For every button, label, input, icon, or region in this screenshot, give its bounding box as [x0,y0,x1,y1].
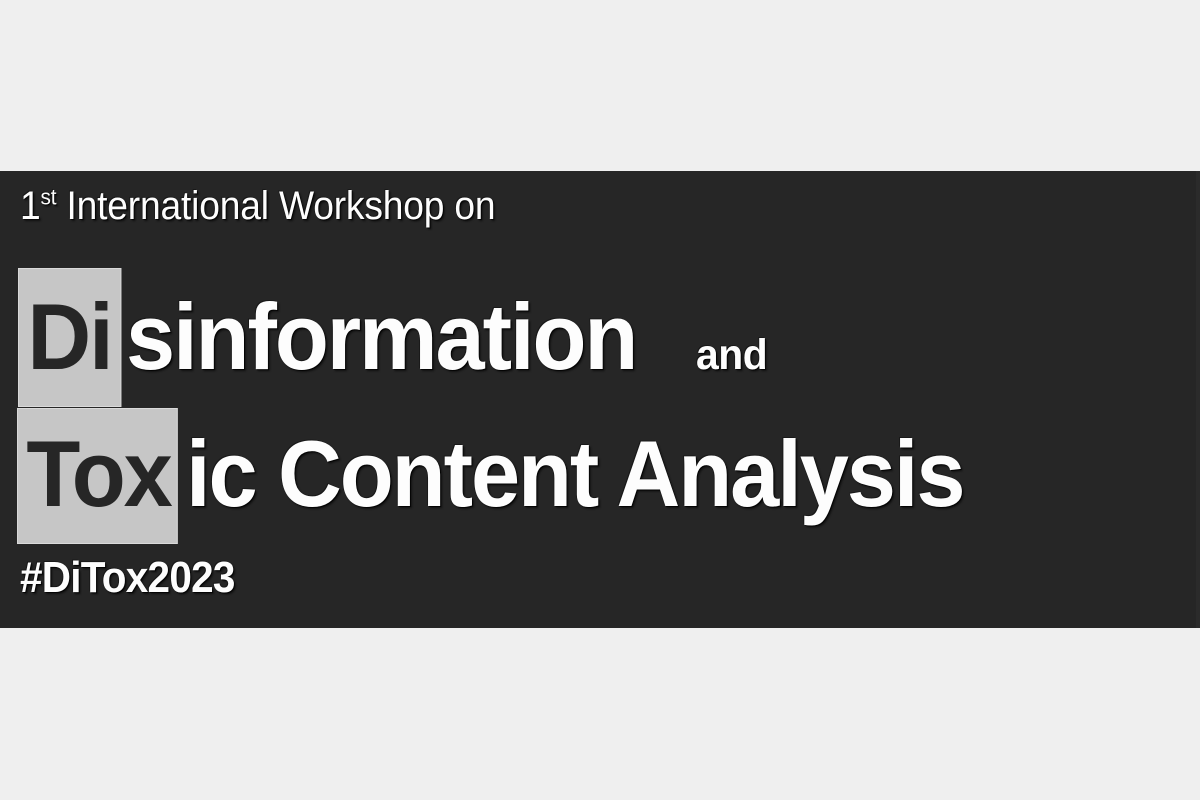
kicker-rest: International Workshop on [56,184,495,228]
workshop-kicker-line: 1st International Workshop on [20,186,495,226]
kicker-ordinal-suffix: st [41,185,57,210]
banner-right-edge [1196,171,1200,628]
title-conjunction-and: and [696,334,767,377]
title-remainder-sinformation: sinformation [126,290,636,384]
workshop-banner: 1st International Workshop on Disinforma… [0,171,1196,628]
highlight-chip-tox: Tox [17,408,177,544]
title-line-disinformation: Disinformationand [18,268,771,407]
title-line-toxic-content-analysis: Toxic Content Analysis [17,408,1013,544]
hashtag-label: #DiTox2023 [20,556,235,600]
highlight-chip-di: Di [18,268,121,407]
kicker-ordinal-number: 1 [20,184,41,228]
title-remainder-ic-content-analysis: ic Content Analysis [186,427,963,521]
poster-canvas: 1st International Workshop on Disinforma… [0,0,1200,800]
